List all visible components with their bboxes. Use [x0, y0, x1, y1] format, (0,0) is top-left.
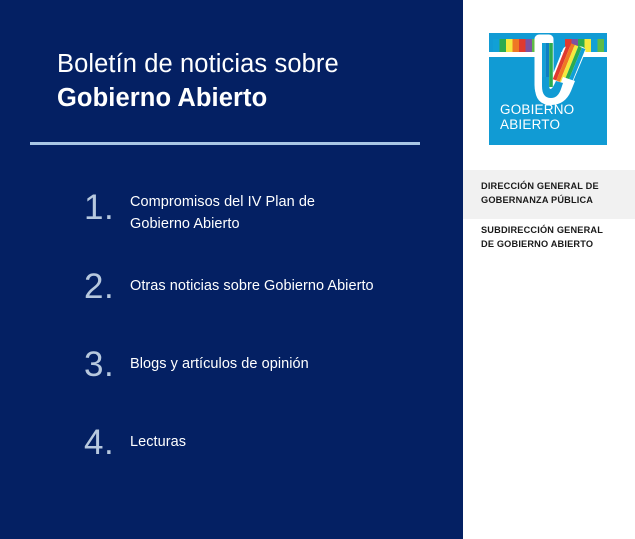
toc-item-1-number: 1.	[84, 190, 130, 225]
toc-item-3[interactable]: 3. Blogs y artículos de opinión	[0, 343, 463, 399]
toc-item-4[interactable]: 4. Lecturas	[0, 421, 463, 477]
toc-item-1-label: Compromisos del IV Plan de Gobierno Abie…	[130, 186, 463, 236]
toc-item-3-label: Blogs y artículos de opinión	[130, 343, 463, 376]
department-secondary-label: SUBDIRECCIÓN GENERAL DE GOBIERNO ABIERTO	[463, 224, 635, 252]
table-of-contents: 1. Compromisos del IV Plan de Gobierno A…	[0, 186, 463, 498]
title-divider	[30, 142, 420, 145]
toc-item-2[interactable]: 2. Otras noticias sobre Gobierno Abierto	[0, 265, 463, 321]
right-branding-panel: GOBIERNO ABIERTO DIRECCIÓN GENERAL DE GO…	[463, 0, 635, 539]
toc-item-4-label: Lecturas	[130, 421, 463, 454]
gobierno-abierto-logo: GOBIERNO ABIERTO	[489, 33, 607, 145]
toc-item-2-label: Otras noticias sobre Gobierno Abierto	[130, 265, 463, 298]
logo-wordmark: GOBIERNO ABIERTO	[500, 102, 574, 132]
toc-item-3-number: 3.	[84, 347, 130, 382]
page-title-line-1: Boletín de noticias sobre	[57, 48, 437, 82]
toc-item-1[interactable]: 1. Compromisos del IV Plan de Gobierno A…	[0, 186, 463, 242]
toc-item-4-number: 4.	[84, 425, 130, 460]
department-primary-block: DIRECCIÓN GENERAL DE GOBERNANZA PÚBLICA	[463, 170, 635, 219]
page-title: Boletín de noticias sobre Gobierno Abier…	[57, 48, 437, 115]
left-navy-panel: Boletín de noticias sobre Gobierno Abier…	[0, 0, 463, 539]
department-secondary-block: SUBDIRECCIÓN GENERAL DE GOBIERNO ABIERTO	[463, 216, 635, 261]
newsletter-cover-slide: Boletín de noticias sobre Gobierno Abier…	[0, 0, 635, 539]
department-primary-label: DIRECCIÓN GENERAL DE GOBERNANZA PÚBLICA	[463, 180, 635, 208]
toc-item-2-number: 2.	[84, 269, 130, 304]
page-title-line-2: Gobierno Abierto	[57, 82, 437, 116]
